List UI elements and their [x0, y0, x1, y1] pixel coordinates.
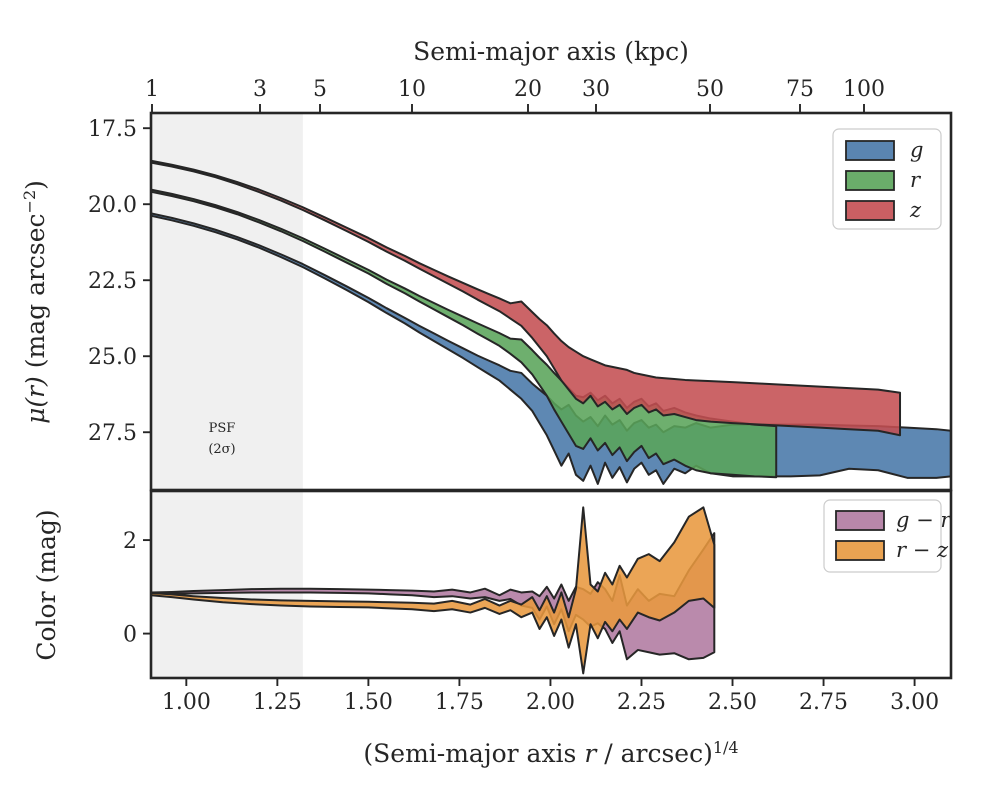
kpc-tick-label-5: 5	[313, 77, 327, 102]
legend-label-r-z: r − z	[896, 538, 949, 562]
kpc-tick-label-50: 50	[696, 77, 724, 102]
top-axis-label: Semi-major axis (kpc)	[413, 37, 689, 66]
legend-swatch-z	[846, 201, 894, 220]
ytick-label-27.5: 27.5	[88, 421, 137, 446]
xtick-label-1.75: 1.75	[435, 690, 484, 715]
kpc-tick-label-20: 20	[514, 77, 542, 102]
ytick-label-17.5: 17.5	[88, 117, 137, 142]
legend-swatch-g	[846, 141, 894, 160]
xtick-label-1.25: 1.25	[253, 690, 302, 715]
figure-canvas: 1.001.251.501.752.002.252.502.753.001351…	[0, 0, 1000, 800]
ytick-label-c-2: 2	[123, 529, 137, 554]
kpc-tick-label-30: 30	[582, 77, 610, 102]
legend-color[interactable]: g − rr − z	[824, 500, 952, 572]
legend-label-g: g	[910, 138, 923, 162]
bottom-panel-y-axis-label: Color (mag)	[32, 509, 61, 660]
ytick-label-20.0: 20.0	[88, 193, 137, 218]
xtick-label-2.50: 2.50	[708, 690, 757, 715]
legend-swatch-r-z	[836, 541, 884, 560]
kpc-tick-label-3: 3	[253, 77, 267, 102]
chart-svg: 1.001.251.501.752.002.252.502.753.001351…	[0, 0, 1000, 800]
legend-swatch-g-r	[836, 511, 884, 530]
kpc-tick-label-1: 1	[145, 77, 159, 102]
kpc-tick-label-100: 100	[843, 77, 885, 102]
legend-surface-brightness[interactable]: grz	[833, 129, 941, 229]
kpc-tick-label-75: 75	[786, 77, 814, 102]
legend-label-g-r: g − r	[896, 508, 952, 532]
kpc-tick-label-10: 10	[398, 77, 426, 102]
psf-annotation-line1: PSF	[209, 421, 236, 436]
xtick-label-3.00: 3.00	[890, 690, 939, 715]
ytick-label-25.0: 25.0	[88, 345, 137, 370]
xtick-label-2.25: 2.25	[617, 690, 666, 715]
xtick-label-1.50: 1.50	[344, 690, 393, 715]
legend-swatch-r	[846, 171, 894, 190]
psf-annotation-line2: (2σ)	[208, 442, 235, 457]
ytick-label-c-0: 0	[123, 623, 137, 648]
psf-shaded-region-bottom	[151, 491, 303, 678]
legend-label-z: z	[909, 198, 922, 222]
xtick-label-1.00: 1.00	[162, 690, 211, 715]
x-axis-label: (Semi-major axis r / arcsec)1/4	[363, 738, 738, 768]
top-panel-y-axis-label: μ(r) (mag arcsec−2)	[20, 180, 50, 424]
ytick-label-22.5: 22.5	[88, 269, 137, 294]
xtick-label-2.00: 2.00	[526, 690, 575, 715]
xtick-label-2.75: 2.75	[799, 690, 848, 715]
